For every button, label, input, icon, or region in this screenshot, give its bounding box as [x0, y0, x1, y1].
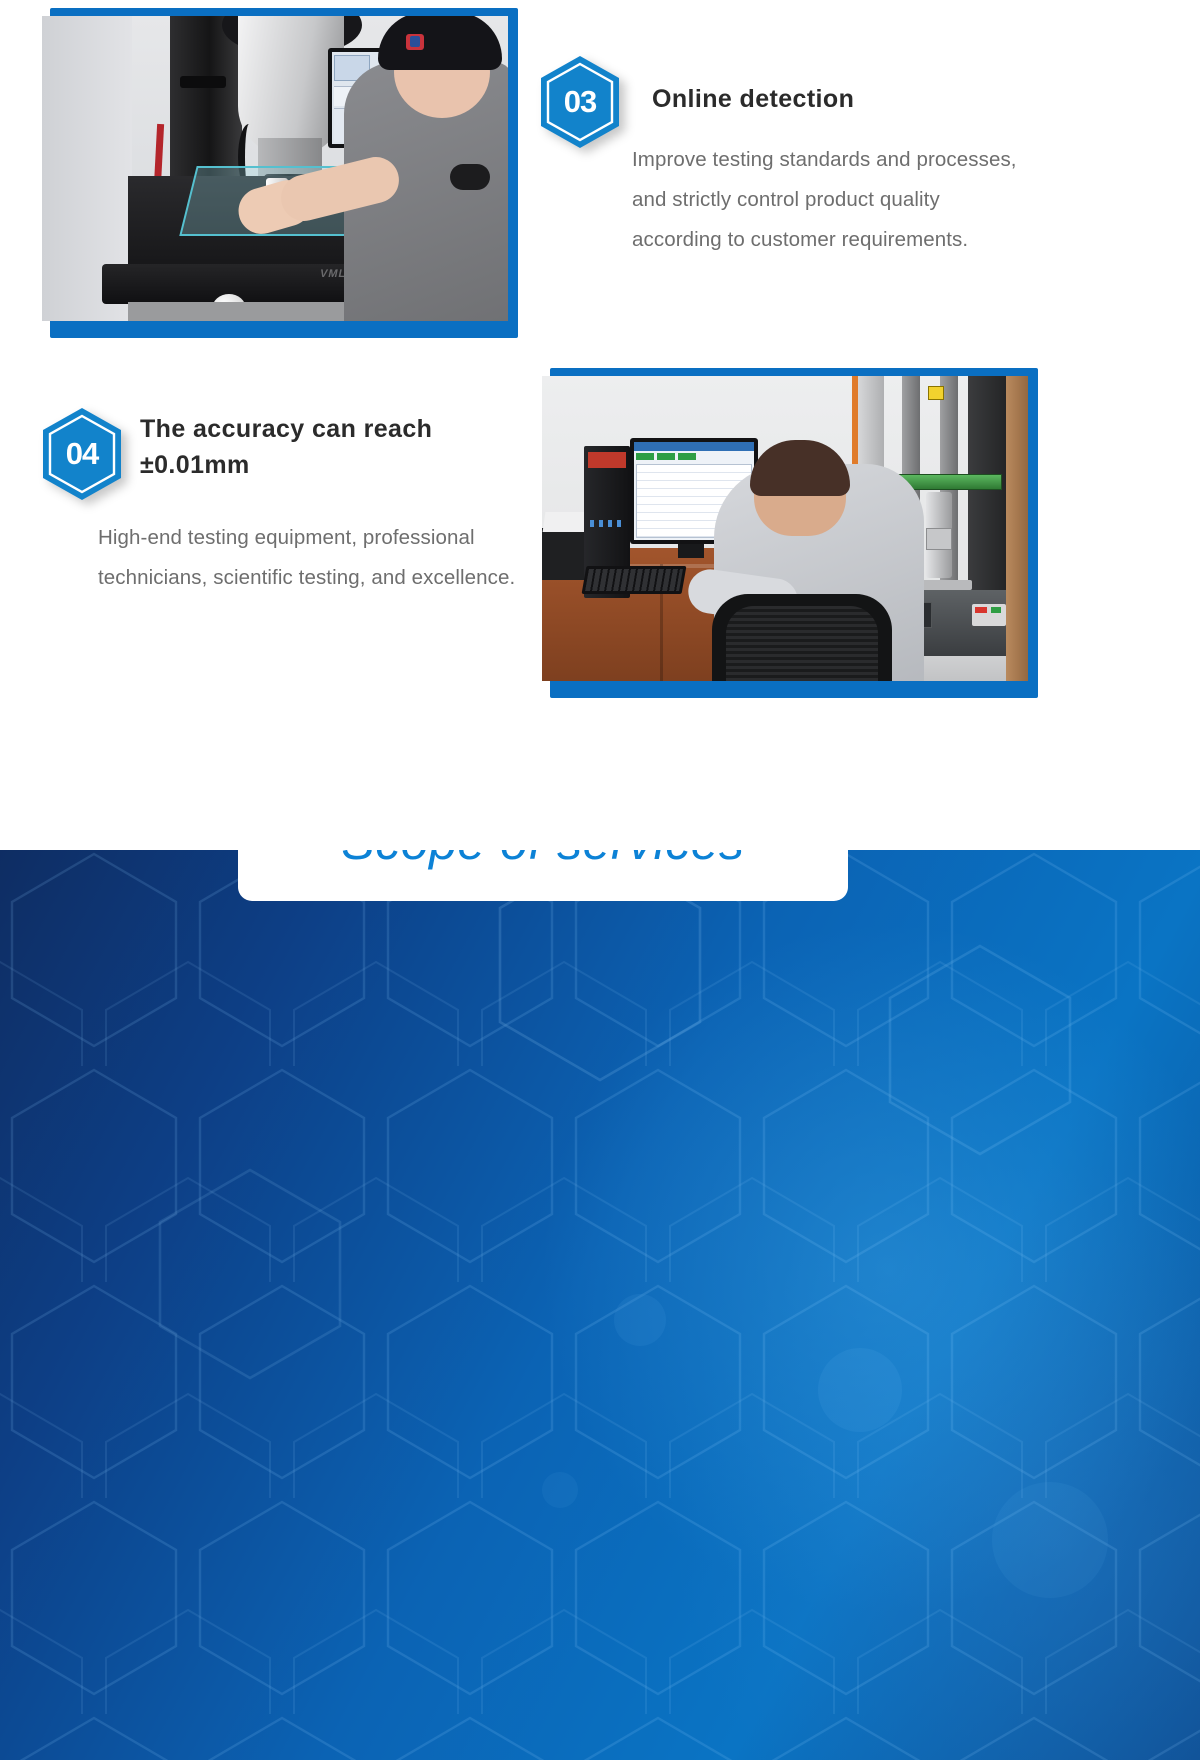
- pc-tower-top-panel: [588, 452, 626, 468]
- pc-tower-ports: [590, 520, 624, 527]
- warning-sign-icon: [928, 386, 944, 400]
- scope-of-services-section: Scope of services 01 CNC processing of e…: [0, 850, 1200, 1760]
- cap-logo-icon: [406, 34, 424, 50]
- operator-cap: [378, 16, 502, 70]
- monitor-stand: [678, 544, 704, 558]
- machine-crosshead: [898, 474, 1002, 490]
- feature-badge-04: 04: [40, 406, 124, 502]
- features-section: VML300 03 Online detection Improve testi…: [0, 0, 1200, 850]
- feature-badge-number: 03: [538, 54, 622, 150]
- feature-badge-03: 03: [538, 54, 622, 150]
- keyboard: [582, 566, 687, 594]
- computer-mouse: [450, 164, 490, 190]
- scope-banner-title: Scope of services: [341, 850, 744, 871]
- hexagon-pattern-background: [0, 850, 1200, 1760]
- scope-banner: Scope of services: [238, 850, 848, 901]
- screen-titlebar: [634, 442, 754, 451]
- feature-body-online-detection: Improve testing standards and processes,…: [632, 140, 1024, 260]
- feature-photo-accuracy: [540, 368, 1038, 698]
- page-root: VML300 03 Online detection Improve testi…: [0, 0, 1200, 1760]
- wooden-door: [1006, 376, 1028, 681]
- scene-tensile-testing-lab: [542, 376, 1028, 681]
- feature-body-accuracy: High-end testing equipment, professional…: [98, 518, 522, 598]
- feature-badge-number: 04: [40, 406, 124, 502]
- photo-image-tensile-tester: [542, 376, 1028, 681]
- feature-photo-online-detection: VML300: [22, 8, 518, 338]
- photo-image-optical-measuring: VML300: [42, 16, 508, 321]
- scene-optical-measuring: VML300: [42, 16, 508, 321]
- feature-title-accuracy: The accuracy can reach ±0.01mm: [140, 412, 500, 483]
- screen-toolbar: [636, 453, 696, 460]
- feature-title-online-detection: Online detection: [652, 82, 1132, 118]
- office-chair: [712, 594, 892, 681]
- machine-grip-lower: [926, 528, 952, 550]
- machine-indicator-panel: [972, 604, 1006, 626]
